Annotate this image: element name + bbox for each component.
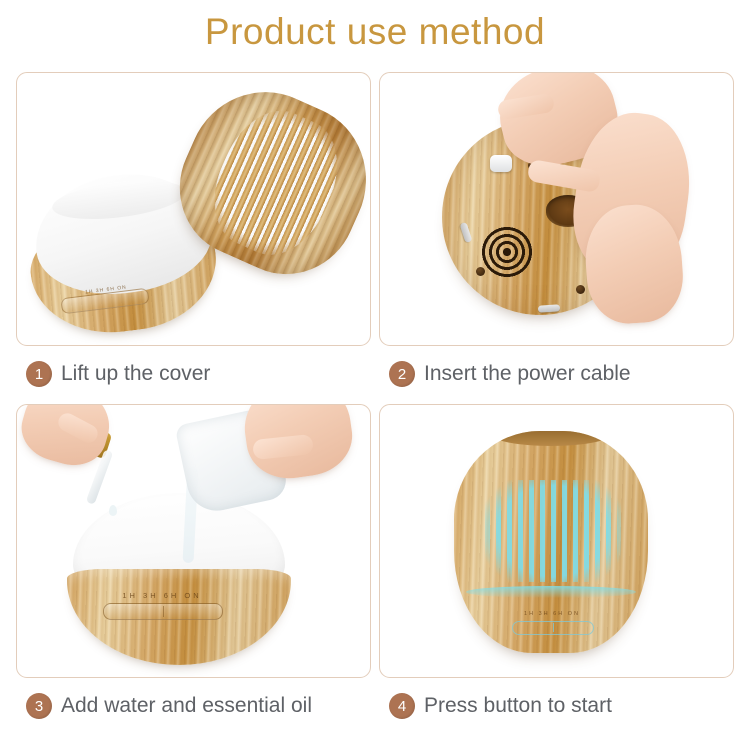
screw-hole: [576, 285, 585, 294]
step-4: 1H 3H 6H ON 4 Press button to start: [379, 404, 734, 736]
diffuser-assembled: 1H 3H 6H ON: [454, 431, 648, 653]
filling-diffuser-illustration: 1H 3H 6H ON: [17, 405, 370, 677]
fan-vent-icon: [475, 220, 539, 284]
step-3: 1H 3H 6H ON 3 Add water and essential oi…: [16, 404, 371, 736]
top-opening: [493, 431, 609, 446]
timer-labels: 1H 3H 6H ON: [103, 591, 221, 600]
steps-grid: 1H 3H 6H ON 1 Lift up the cover: [16, 72, 734, 736]
step-2: 2 Insert the power cable: [379, 72, 734, 404]
step-1: 1H 3H 6H ON 1 Lift up the cover: [16, 72, 371, 404]
step-caption-text: Add water and essential oil: [61, 694, 312, 718]
timer-labels: 1H 3H 6H ON: [514, 611, 590, 617]
control-button-pad: [512, 621, 594, 635]
glow-ring: [466, 586, 637, 598]
power-plug: [490, 155, 512, 172]
step-caption-text: Press button to start: [424, 694, 612, 718]
step-number-badge: 3: [26, 693, 52, 719]
diffuser-open-illustration: 1H 3H 6H ON: [17, 73, 370, 345]
step-caption-text: Lift up the cover: [61, 362, 210, 386]
diffuser-glowing-illustration: 1H 3H 6H ON: [380, 405, 733, 677]
step-number-badge: 4: [389, 693, 415, 719]
step-4-caption: 4 Press button to start: [379, 678, 734, 734]
step-number-badge: 1: [26, 361, 52, 387]
diffuser-underside-illustration: [380, 73, 733, 345]
step-caption-text: Insert the power cable: [424, 362, 631, 386]
rubber-foot: [460, 222, 473, 243]
screw-hole: [476, 267, 485, 276]
step-3-image: 1H 3H 6H ON: [16, 404, 371, 678]
product-instructions-page: Product use method 1H 3H 6H ON 1 Lif: [0, 0, 750, 750]
step-4-image: 1H 3H 6H ON: [379, 404, 734, 678]
step-1-caption: 1 Lift up the cover: [16, 346, 371, 402]
step-2-caption: 2 Insert the power cable: [379, 346, 734, 402]
oil-droplet: [109, 505, 117, 516]
step-3-caption: 3 Add water and essential oil: [16, 678, 371, 734]
glowing-slots: [485, 480, 621, 582]
page-title: Product use method: [0, 0, 750, 64]
step-number-badge: 2: [389, 361, 415, 387]
step-1-image: 1H 3H 6H ON: [16, 72, 371, 346]
rubber-foot: [538, 304, 560, 313]
control-button-pad: [103, 603, 223, 620]
step-2-image: [379, 72, 734, 346]
